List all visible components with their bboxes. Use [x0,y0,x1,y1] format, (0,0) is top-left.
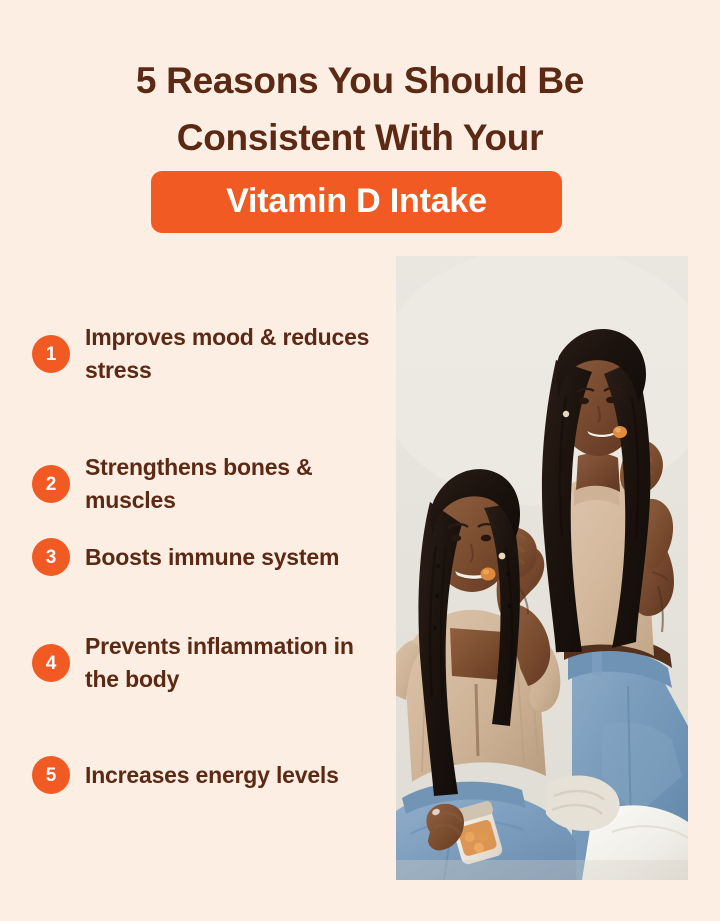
reason-number-badge: 3 [32,538,70,576]
photo-illustration [396,256,688,880]
reason-number-badge: 4 [32,644,70,682]
reason-number-badge: 1 [32,335,70,373]
title-line-1: 5 Reasons You Should Be [0,52,720,109]
reason-text: Strengthens bones & muscles [85,451,392,517]
list-item: 4 Prevents inflammation in the body [32,630,392,696]
list-item: 3 Boosts immune system [32,538,392,576]
reason-number-badge: 2 [32,465,70,503]
list-item: 2 Strengthens bones & muscles [32,451,392,517]
lifestyle-photo [396,256,688,880]
reason-text: Increases energy levels [85,759,339,792]
reason-text: Improves mood & reduces stress [85,321,392,387]
infographic-canvas: 5 Reasons You Should Be Consistent With … [0,0,720,921]
title-line-2: Consistent With Your [0,109,720,166]
reason-number-badge: 5 [32,756,70,794]
highlight-badge: Vitamin D Intake [151,171,562,233]
page-title: 5 Reasons You Should Be Consistent With … [0,52,720,166]
reason-text: Prevents inflammation in the body [85,630,392,696]
highlight-badge-label: Vitamin D Intake [226,184,487,221]
list-item: 1 Improves mood & reduces stress [32,321,392,387]
list-item: 5 Increases energy levels [32,756,392,794]
reason-text: Boosts immune system [85,541,339,574]
